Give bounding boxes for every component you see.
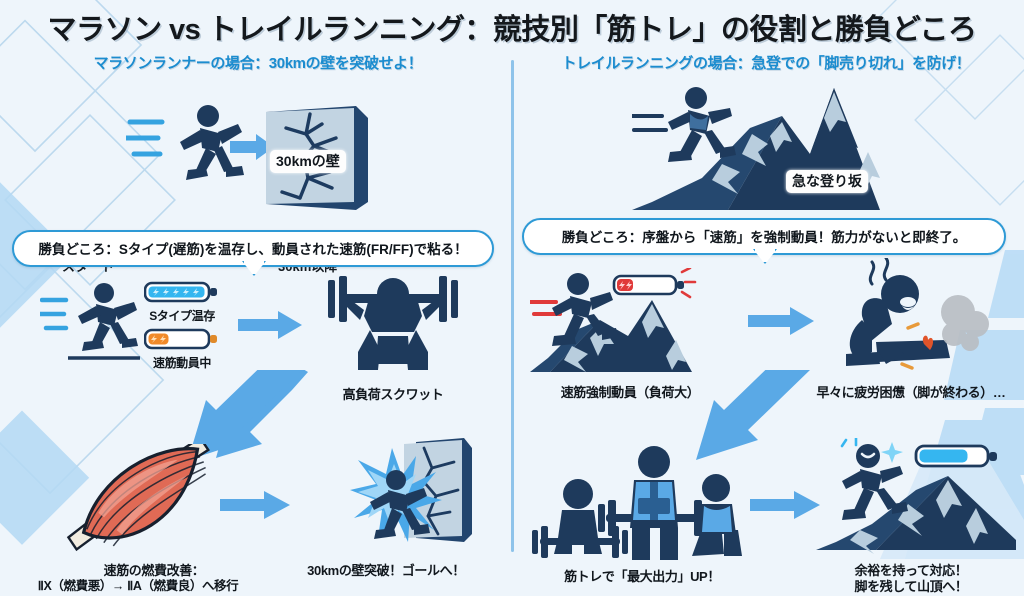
battery-indicator-fast-twitch: 速筋動員中 [144,328,220,371]
battery-fast-twitch-label: 速筋動員中 [144,356,220,371]
left-arrow-to-breakthrough-icon [220,490,290,525]
right-callout: 勝負どころ：序盤から「速筋」を強制動員！筋力がないと即終了。 [522,218,1006,255]
battery-critical-icon [614,268,695,297]
left-column: マラソンランナーの場合：30kmの壁を突破せよ！ [8,52,508,552]
battery-good-icon [916,446,997,466]
squat-caption: 高負荷スクワット [318,387,468,403]
wall-label: 30kmの壁 [270,150,346,173]
right-arrow-to-exhausted-icon [748,306,814,341]
left-column-heading: マラソンランナーの場合：30kmの壁を突破せよ！ [8,52,508,73]
exhausted-caption: 早々に疲労困憊（脚が終わる）… [796,385,1024,401]
muscle-caption-line2: ⅡX（燃費悪）→ ⅡA（燃費良）へ移行 [16,579,260,595]
left-runner-batteries-icon [40,280,145,367]
exhausted-runner-icon: 早々に疲労困憊（脚が終わる）… [816,258,1024,401]
summit-caption-line1: 余裕を持って対応！ [806,563,1016,579]
right-column-heading: トレイルランニングの場合：急登での「脚売り切れ」を防げ！ [516,52,1016,73]
strength-training-caption: 筋トレで「最大出力」UP！ [532,569,752,585]
muscle-caption-line1: 速筋の燃費改善： [48,563,260,579]
battery-s-type-label: Sタイプ温存 [144,309,220,324]
squat-icon: 高負荷スクワット [318,270,468,403]
left-callout: 勝負どころ：Sタイプ(遅筋)を温存し、動員された速筋(FR/FF)で粘る！ [12,230,494,267]
mountain-label: 急な登り坂 [786,170,868,193]
breakthrough-caption: 30kmの壁突破！ゴールへ！ [266,563,506,579]
left-arrow-to-squat-icon [238,310,302,345]
battery-indicator-s-type: Sタイプ温存 [144,281,220,324]
summit-success-icon: 余裕を持って対応！ 脚を残して山頂へ！ [816,438,1016,596]
strength-training-icon: 筋トレで「最大出力」UP！ [532,442,752,585]
left-runner-icon [126,100,246,195]
column-divider [511,60,514,552]
mountain-climb-icon: 急な登り坂 [632,82,902,217]
summit-caption-line2: 脚を残して山頂へ！ [806,579,1016,595]
right-column: トレイルランニングの場合：急登での「脚売り切れ」を防げ！ [516,52,1016,552]
wall-breakthrough-icon: 30kmの壁突破！ゴールへ！ [296,438,506,579]
page-title: マラソン vs トレイルランニング：競技別「筋トレ」の役割と勝負どころ [0,6,1024,48]
right-arrow-to-summit-icon [750,490,820,525]
left-wall-icon: 30kmの壁 [256,106,376,221]
